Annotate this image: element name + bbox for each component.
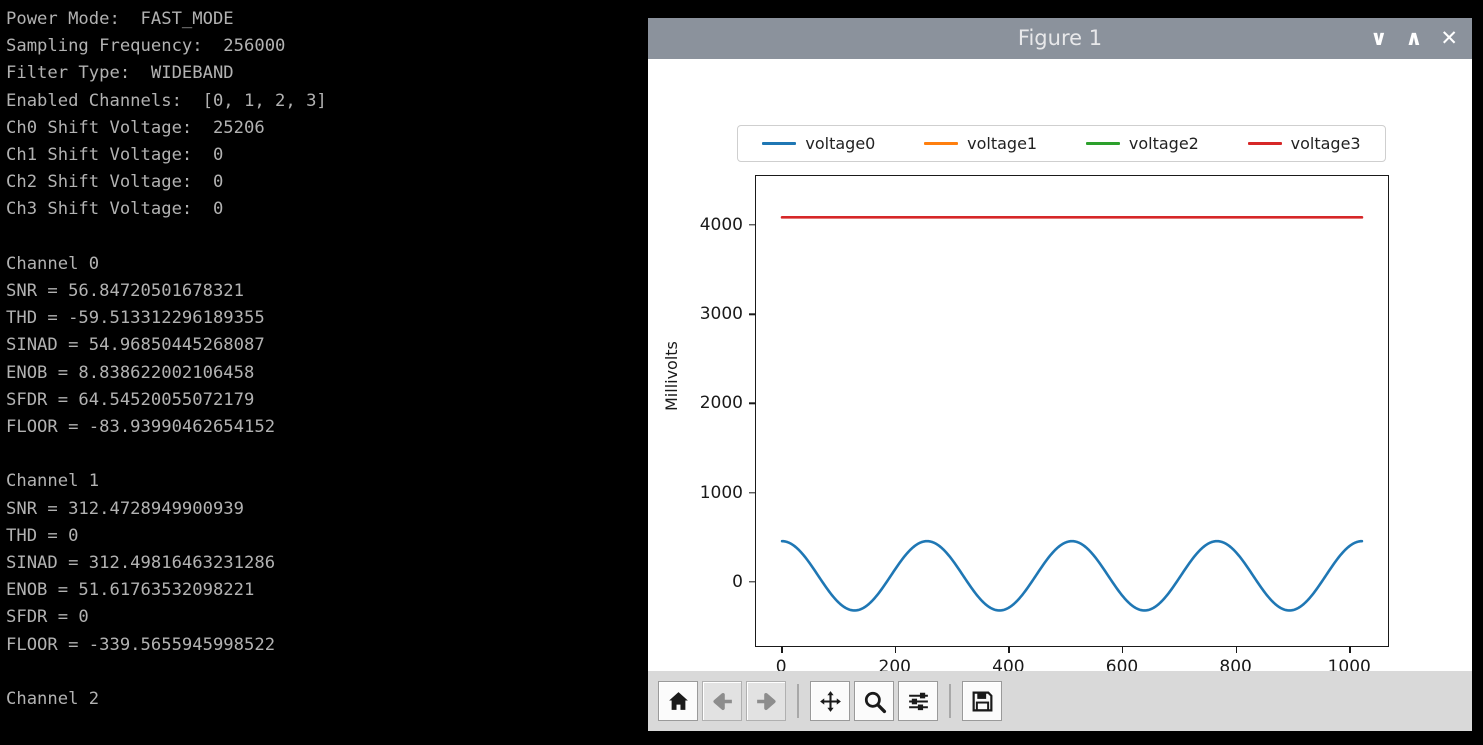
x-tick-label: 400 bbox=[992, 657, 1024, 671]
minimize-icon[interactable]: ∨ bbox=[1370, 28, 1387, 49]
terminal-line bbox=[6, 224, 648, 251]
y-tick-label: 3000 bbox=[648, 304, 743, 324]
forward-arrow-icon bbox=[754, 689, 779, 714]
terminal-line: SINAD = 54.96850445268087 bbox=[6, 332, 648, 359]
maximize-icon[interactable]: ∧ bbox=[1405, 28, 1422, 49]
chart-legend: voltage0voltage1voltage2voltage3 bbox=[737, 125, 1386, 162]
toolbar-separator bbox=[797, 684, 799, 718]
y-tick-label: 4000 bbox=[648, 215, 743, 235]
legend-entry: voltage1 bbox=[924, 134, 1037, 153]
subplot-sliders-icon bbox=[906, 689, 931, 714]
legend-color-swatch bbox=[762, 142, 796, 145]
legend-color-swatch bbox=[1248, 142, 1282, 145]
home-icon bbox=[666, 689, 691, 714]
terminal-line: SFDR = 0 bbox=[6, 604, 648, 631]
terminal-line: Ch2 Shift Voltage: 0 bbox=[6, 169, 648, 196]
terminal-line: FLOOR = -339.5655945998522 bbox=[6, 632, 648, 659]
terminal-line: THD = -59.513312296189355 bbox=[6, 305, 648, 332]
y-tick-label: 2000 bbox=[648, 393, 743, 413]
toolbar-button-zoom-magnifier[interactable] bbox=[854, 681, 894, 721]
terminal-line: Channel 2 bbox=[6, 686, 648, 713]
x-tick-mark bbox=[895, 647, 896, 653]
terminal-line: FLOOR = -83.93990462654152 bbox=[6, 414, 648, 441]
terminal-line: Power Mode: FAST_MODE bbox=[6, 6, 648, 33]
toolbar-button-save-floppy[interactable] bbox=[962, 681, 1002, 721]
terminal-line: Sampling Frequency: 256000 bbox=[6, 33, 648, 60]
terminal-line: Enabled Channels: [0, 1, 2, 3] bbox=[6, 88, 648, 115]
y-tick-label: 1000 bbox=[648, 483, 743, 503]
legend-label: voltage1 bbox=[967, 134, 1037, 153]
terminal-line: Ch1 Shift Voltage: 0 bbox=[6, 142, 648, 169]
terminal-text-block: Power Mode: FAST_MODESampling Frequency:… bbox=[6, 6, 648, 713]
x-tick-mark bbox=[1008, 647, 1009, 653]
window-title-bar[interactable]: Figure 1 ∨ ∧ ✕ bbox=[648, 18, 1472, 59]
terminal-line: THD = 0 bbox=[6, 523, 648, 550]
zoom-magnifier-icon bbox=[862, 689, 887, 714]
terminal-line: Ch0 Shift Voltage: 25206 bbox=[6, 115, 648, 142]
terminal-line: ENOB = 51.61763532098221 bbox=[6, 577, 648, 604]
x-tick-label: 200 bbox=[879, 657, 911, 671]
toolbar-button-pan-move[interactable] bbox=[810, 681, 850, 721]
y-tick-label: 0 bbox=[648, 572, 743, 592]
x-tick-mark bbox=[781, 647, 782, 653]
terminal-line: Channel 1 bbox=[6, 468, 648, 495]
terminal-output-pane[interactable]: Power Mode: FAST_MODESampling Frequency:… bbox=[0, 0, 648, 745]
window-controls[interactable]: ∨ ∧ ✕ bbox=[1370, 18, 1458, 59]
x-tick-label: 600 bbox=[1106, 657, 1138, 671]
legend-entry: voltage3 bbox=[1248, 134, 1361, 153]
toolbar-button-forward-arrow[interactable] bbox=[746, 681, 786, 721]
x-tick-label: 800 bbox=[1219, 657, 1251, 671]
x-tick-mark bbox=[1122, 647, 1123, 653]
legend-entry: voltage0 bbox=[762, 134, 875, 153]
legend-entry: voltage2 bbox=[1086, 134, 1199, 153]
legend-color-swatch bbox=[924, 142, 958, 145]
legend-label: voltage0 bbox=[805, 134, 875, 153]
back-arrow-icon bbox=[710, 689, 735, 714]
terminal-line: Ch3 Shift Voltage: 0 bbox=[6, 196, 648, 223]
plot-axes bbox=[755, 175, 1389, 647]
save-floppy-icon bbox=[970, 689, 995, 714]
legend-label: voltage2 bbox=[1129, 134, 1199, 153]
plot-series-area bbox=[756, 176, 1388, 646]
window-title: Figure 1 bbox=[648, 18, 1472, 59]
terminal-line: Filter Type: WIDEBAND bbox=[6, 60, 648, 87]
terminal-line: SFDR = 64.54520055072179 bbox=[6, 387, 648, 414]
terminal-line: SNR = 312.4728949900939 bbox=[6, 496, 648, 523]
terminal-line: SINAD = 312.49816463231286 bbox=[6, 550, 648, 577]
toolbar-button-home[interactable] bbox=[658, 681, 698, 721]
x-tick-mark bbox=[1349, 647, 1350, 653]
terminal-line: ENOB = 8.838622002106458 bbox=[6, 360, 648, 387]
figure-toolbar[interactable] bbox=[648, 671, 1472, 731]
terminal-line: Channel 0 bbox=[6, 251, 648, 278]
figure-canvas[interactable]: voltage0voltage1voltage2voltage3 Millivo… bbox=[648, 59, 1472, 671]
matplotlib-figure-window[interactable]: Figure 1 ∨ ∧ ✕ voltage0voltage1voltage2v… bbox=[648, 18, 1472, 731]
series-line-voltage0 bbox=[782, 541, 1362, 610]
terminal-line bbox=[6, 441, 648, 468]
x-tick-mark bbox=[1236, 647, 1237, 653]
legend-label: voltage3 bbox=[1291, 134, 1361, 153]
toolbar-button-back-arrow[interactable] bbox=[702, 681, 742, 721]
legend-color-swatch bbox=[1086, 142, 1120, 145]
toolbar-separator bbox=[949, 684, 951, 718]
terminal-line: SNR = 56.84720501678321 bbox=[6, 278, 648, 305]
x-tick-label: 0 bbox=[776, 657, 787, 671]
terminal-line bbox=[6, 659, 648, 686]
close-icon[interactable]: ✕ bbox=[1440, 28, 1458, 49]
pan-move-icon bbox=[818, 689, 843, 714]
x-tick-label: 1000 bbox=[1328, 657, 1371, 671]
toolbar-button-subplot-sliders[interactable] bbox=[898, 681, 938, 721]
